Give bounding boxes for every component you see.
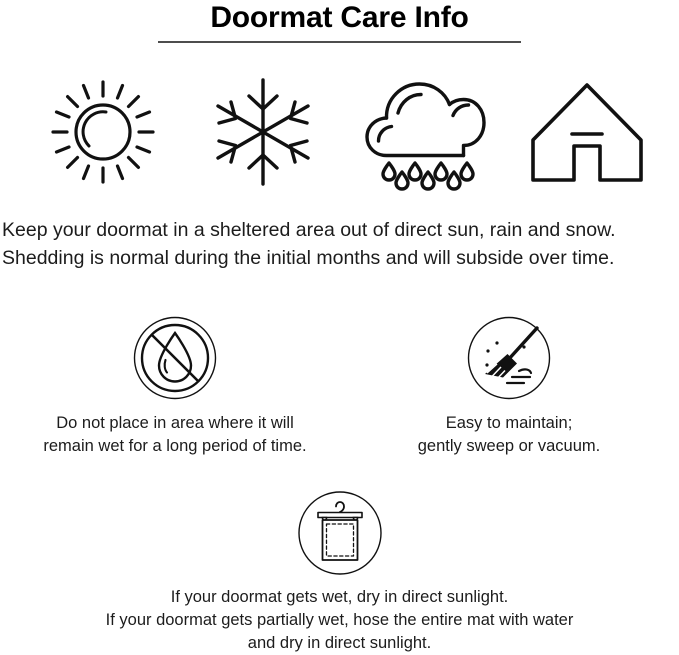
tip-drying-line-3: and dry in direct sunlight. <box>0 632 679 655</box>
tip-no-water-caption: Do not place in area where it will remai… <box>5 412 345 458</box>
no-water-icon-holder <box>5 312 345 404</box>
snowflake-icon <box>211 76 315 188</box>
tip-easy-maintain-line-2: gently sweep or vacuum. <box>339 435 679 458</box>
intro-line-1: Keep your doormat in a sheltered area ou… <box>2 216 678 244</box>
tip-drying-line-2: If your doormat gets partially wet, hose… <box>0 609 679 632</box>
broom-icon-holder <box>339 312 679 404</box>
weather-icon-row <box>0 68 679 196</box>
page-title: Doormat Care Info <box>0 0 679 35</box>
no-water-icon <box>133 316 217 400</box>
hanging-mat-dry-icon <box>297 490 383 576</box>
tip-drying-caption: If your doormat gets wet, dry in direct … <box>0 586 679 655</box>
tip-no-water-line-1: Do not place in area where it will <box>5 412 345 435</box>
tip-no-water-line-2: remain wet for a long period of time. <box>5 435 345 458</box>
tips-row: Do not place in area where it will remai… <box>0 312 679 472</box>
sun-icon <box>49 76 157 188</box>
tip-no-water: Do not place in area where it will remai… <box>5 312 345 458</box>
rain-cloud-icon-cell <box>340 68 510 196</box>
house-icon <box>528 76 646 188</box>
rain-cloud-icon <box>363 73 487 191</box>
tip-easy-maintain-line-1: Easy to maintain; <box>339 412 679 435</box>
snowflake-icon-cell <box>178 68 348 196</box>
intro-line-2: Shedding is normal during the initial mo… <box>2 244 678 272</box>
tip-drying: If your doormat gets wet, dry in direct … <box>0 486 679 655</box>
tip-easy-maintain: Easy to maintain; gently sweep or vacuum… <box>339 312 679 458</box>
page-header: Doormat Care Info <box>0 0 679 43</box>
sun-icon-cell <box>18 68 188 196</box>
hanging-mat-icon-holder <box>0 486 679 580</box>
tip-drying-line-1: If your doormat gets wet, dry in direct … <box>0 586 679 609</box>
house-icon-cell <box>502 68 672 196</box>
tip-easy-maintain-caption: Easy to maintain; gently sweep or vacuum… <box>339 412 679 458</box>
intro-paragraph: Keep your doormat in a sheltered area ou… <box>2 216 678 272</box>
title-underline-rule <box>158 41 521 43</box>
broom-sweep-icon <box>467 316 551 400</box>
